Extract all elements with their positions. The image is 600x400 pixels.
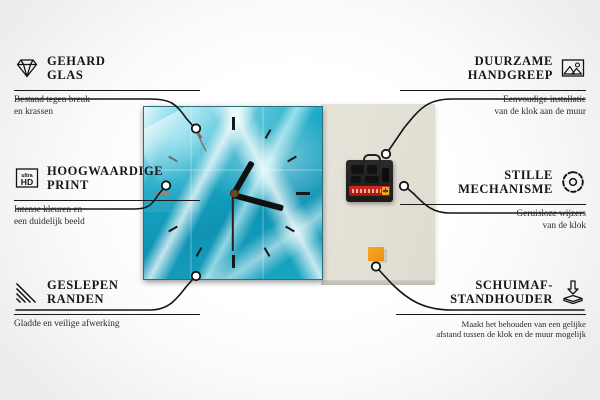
feature-desc-line1: Eenvoudige installatie (503, 95, 586, 105)
feature-title-line2: HANDGREEP (468, 68, 553, 82)
clock-center-cap (230, 189, 239, 198)
infographic-canvas: GEHARD GLAS Bestand tegen breuk en krass… (0, 0, 600, 400)
mechanism-battery (349, 186, 390, 196)
mechanism-detail (382, 168, 389, 182)
battery-plus-terminal (382, 187, 389, 195)
feature-description: Bestand tegen breuk en krassen (14, 95, 200, 118)
feature-desc-line2: een duidelijk beeld (14, 217, 85, 227)
feature-header: SCHUIMAF- STANDHOUDER (396, 272, 586, 312)
feature-header: GEHARD GLAS (14, 48, 200, 88)
feature-divider (400, 204, 586, 205)
feature-title-line1: STILLE (504, 168, 553, 182)
feature-gehard-glas: GEHARD GLAS Bestand tegen breuk en krass… (14, 48, 200, 118)
feature-desc-line2: afstand tussen de klok en de muur mogeli… (436, 329, 586, 339)
feature-duurzame-handgreep: DUURZAME HANDGREEP Eenvoudige installati… (400, 48, 586, 118)
ultra-hd-icon: ultra HD (14, 165, 40, 191)
feature-title-line1: GEHARD (47, 54, 105, 68)
diamond-icon (14, 55, 40, 81)
foam-spacer-pad (368, 247, 384, 261)
feature-title: GESLEPEN RANDEN (47, 278, 119, 306)
feature-desc-line1: Gladde en veilige afwerking (14, 319, 120, 329)
feature-title: STILLE MECHANISME (458, 168, 553, 196)
feature-title-line1: SCHUIMAF- (475, 278, 553, 292)
battery-label (352, 189, 381, 193)
feature-title: GEHARD GLAS (47, 54, 105, 82)
clock-tick-12 (232, 117, 235, 130)
feature-geslepen-randen: GESLEPEN RANDEN Gladde en veilige afwerk… (14, 272, 200, 331)
feature-schuimafstandhouder: SCHUIMAF- STANDHOUDER Maakt het behouden… (396, 272, 586, 340)
feature-divider (396, 314, 586, 315)
feature-hoogwaardige-print: ultra HD HOOGWAARDIGE PRINT Intense kleu… (14, 158, 200, 228)
feature-divider (400, 90, 586, 91)
mechanism-detail (351, 176, 361, 183)
feature-desc-line1: Maakt het behouden van een gelijke (462, 319, 586, 329)
mechanism-detail (351, 165, 364, 174)
glass-pane-line (262, 107, 264, 279)
gear-icon (560, 169, 586, 195)
feature-description: Maakt het behouden van een gelijke afsta… (396, 319, 586, 340)
feature-divider (14, 90, 200, 91)
feature-description: Intense kleuren en een duidelijk beeld (14, 205, 200, 228)
feature-desc-line2: van de klok (543, 221, 586, 231)
feature-title: DUURZAME HANDGREEP (468, 54, 553, 82)
feature-description: Geruisloze wijzers van de klok (400, 209, 586, 232)
feature-header: GESLEPEN RANDEN (14, 272, 200, 312)
bevelled-edges-icon (14, 279, 40, 305)
feature-header: STILLE MECHANISME (400, 162, 586, 202)
feature-desc-line1: Intense kleuren en (14, 205, 82, 215)
picture-frame-icon (560, 55, 586, 81)
feature-desc-line2: en krassen (14, 107, 53, 117)
feature-divider (14, 314, 200, 315)
feature-description: Gladde en veilige afwerking (14, 319, 200, 331)
feature-title: SCHUIMAF- STANDHOUDER (450, 278, 553, 306)
feature-desc-line1: Bestand tegen breuk (14, 95, 90, 105)
feature-title-line1: HOOGWAARDIGE (47, 164, 163, 178)
feature-stille-mechanisme: STILLE MECHANISME Geruisloze wijzers van… (400, 162, 586, 232)
feature-title-line2: MECHANISME (458, 182, 553, 196)
mechanism-detail (365, 176, 379, 183)
feature-desc-line1: Geruisloze wijzers (517, 209, 586, 219)
press-down-pad-icon (560, 279, 586, 305)
feature-header: DUURZAME HANDGREEP (400, 48, 586, 88)
feature-title: HOOGWAARDIGE PRINT (47, 164, 163, 192)
feature-divider (14, 200, 200, 201)
clock-second-hand (232, 193, 234, 251)
clock-tick-3 (296, 192, 310, 195)
feature-title-line2: GLAS (47, 68, 83, 82)
feature-title-line1: GESLEPEN (47, 278, 119, 292)
svg-text:HD: HD (21, 177, 33, 187)
feature-title-line1: DUURZAME (475, 54, 553, 68)
mechanism-detail (367, 165, 377, 174)
feature-title-line2: RANDEN (47, 292, 104, 306)
feature-header: ultra HD HOOGWAARDIGE PRINT (14, 158, 200, 198)
feature-desc-line2: van de klok aan de muur (494, 107, 586, 117)
feature-description: Eenvoudige installatie van de klok aan d… (400, 95, 586, 118)
clock-mechanism (346, 160, 393, 202)
feature-title-line2: STANDHOUDER (450, 292, 553, 306)
feature-title-line2: PRINT (47, 178, 89, 192)
clock-tick-6 (232, 255, 235, 268)
